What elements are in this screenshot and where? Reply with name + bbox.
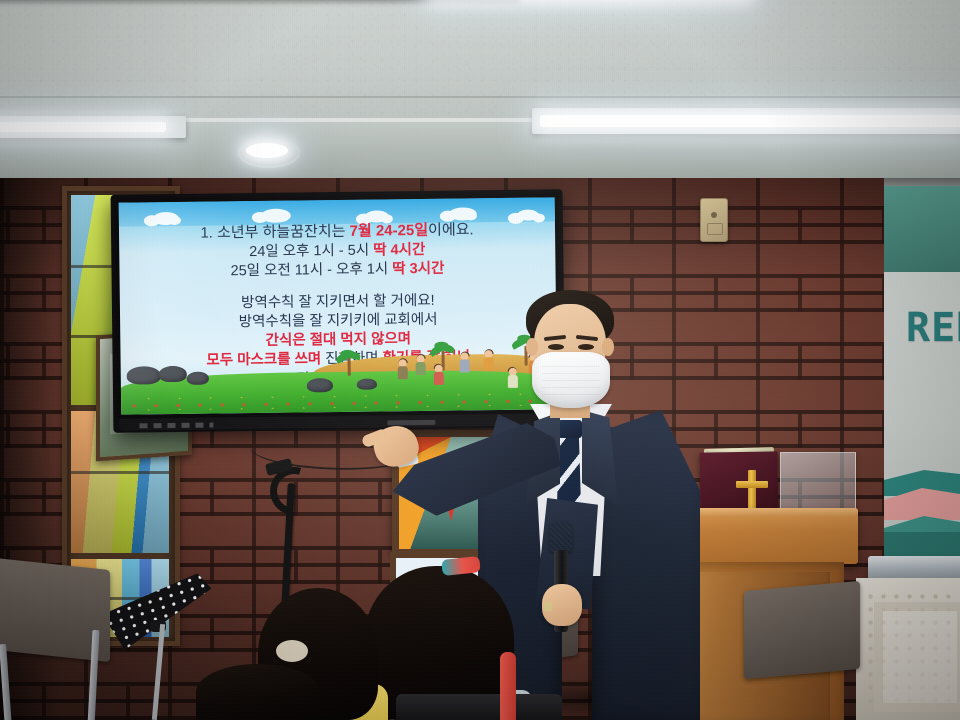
tv-control-buttons[interactable] xyxy=(139,423,213,429)
ceiling-downlight xyxy=(246,143,288,158)
slide-line-3-seg-2-highlight: 딱 3시간 xyxy=(392,261,444,278)
microphone-head xyxy=(550,522,572,552)
cross-horizontal-bar xyxy=(736,481,768,488)
character-body xyxy=(416,362,426,375)
slide-line-2-seg-2-highlight: 딱 4시간 xyxy=(373,242,425,259)
wall-outlet-plate xyxy=(700,198,728,242)
slide-character xyxy=(397,359,409,381)
slide-character xyxy=(415,355,427,379)
character-body xyxy=(433,372,443,385)
folding-chair-right xyxy=(744,586,864,720)
right-wall-teal-curve xyxy=(884,186,960,272)
slide-line-3-seg-1: 25일 오전 11시 - 오후 1시 xyxy=(231,261,393,279)
character-body xyxy=(460,359,470,372)
ceiling-fluorescent-light-left xyxy=(0,116,186,138)
slide-rock xyxy=(357,379,377,390)
palm-frond xyxy=(340,350,354,357)
slide-line-1-seg-1: 1. 소년부 하늘꿈잔치는 xyxy=(200,223,349,242)
slide-rock xyxy=(127,366,161,384)
presenter-eye-left xyxy=(548,344,564,350)
character-body xyxy=(398,366,408,379)
fluorescent-tube-right xyxy=(540,115,960,127)
cross-vertical-bar xyxy=(748,470,756,510)
audience-chair-back xyxy=(396,694,562,720)
finger-ring xyxy=(544,602,552,611)
palm-frond xyxy=(434,342,448,349)
photo-scene: REB xyxy=(0,0,960,720)
tv-brand-logo xyxy=(387,420,435,426)
slide-cloud xyxy=(261,209,291,223)
slide-line-1-seg-2-highlight: 7월 24-25일 xyxy=(350,222,429,240)
folding-chair-left xyxy=(0,564,114,720)
slide-line-4-seg-1: 방역수칙 잘 지키면서 할 거에요! xyxy=(241,293,435,311)
slide-rock xyxy=(159,366,187,382)
slide-rock xyxy=(307,378,333,392)
acrylic-lectern-shield xyxy=(780,452,856,516)
audience-hair xyxy=(196,664,320,720)
necktie-knot xyxy=(558,420,582,438)
gold-cross-icon xyxy=(736,470,768,510)
slide-line-6-seg-1-highlight: 간식은 절대 먹지 않으며 xyxy=(266,331,412,349)
slide-cloud xyxy=(449,207,477,220)
communion-table xyxy=(856,556,960,720)
red-chair-post xyxy=(500,652,516,720)
palm-trunk xyxy=(348,356,351,376)
slide-character xyxy=(433,365,444,385)
ceiling-fluorescent-light-right xyxy=(532,108,960,134)
slide-line-2-seg-1: 24일 오후 1시 - 5시 xyxy=(249,242,373,260)
wall-banner-letters: REB xyxy=(906,306,960,350)
music-stand-pole xyxy=(152,624,165,720)
presenter-ear-left xyxy=(526,338,538,356)
presenter-eye-right xyxy=(578,344,594,350)
chair-seat xyxy=(744,581,860,679)
chair-leg xyxy=(0,644,12,720)
hair-scrunchie xyxy=(276,640,308,662)
slide-line-1-seg-3: 이에요. xyxy=(428,221,474,239)
lace-border xyxy=(874,602,960,712)
slide-line-7-seg-1-highlight: 모두 마스크를 쓰며 xyxy=(206,352,325,369)
slide-line-5-seg-1: 방역수칙을 잘 지키키에 교회에서 xyxy=(239,312,438,330)
face-mask xyxy=(532,352,610,408)
slide-palm-tree xyxy=(337,352,361,376)
slide-character xyxy=(459,352,471,376)
audience-member-bottom-left xyxy=(196,664,320,720)
fluorescent-tube-left xyxy=(0,122,166,132)
presenter-ear-right xyxy=(602,338,614,356)
slide-rock xyxy=(187,372,209,385)
ceiling-seam xyxy=(0,96,960,98)
